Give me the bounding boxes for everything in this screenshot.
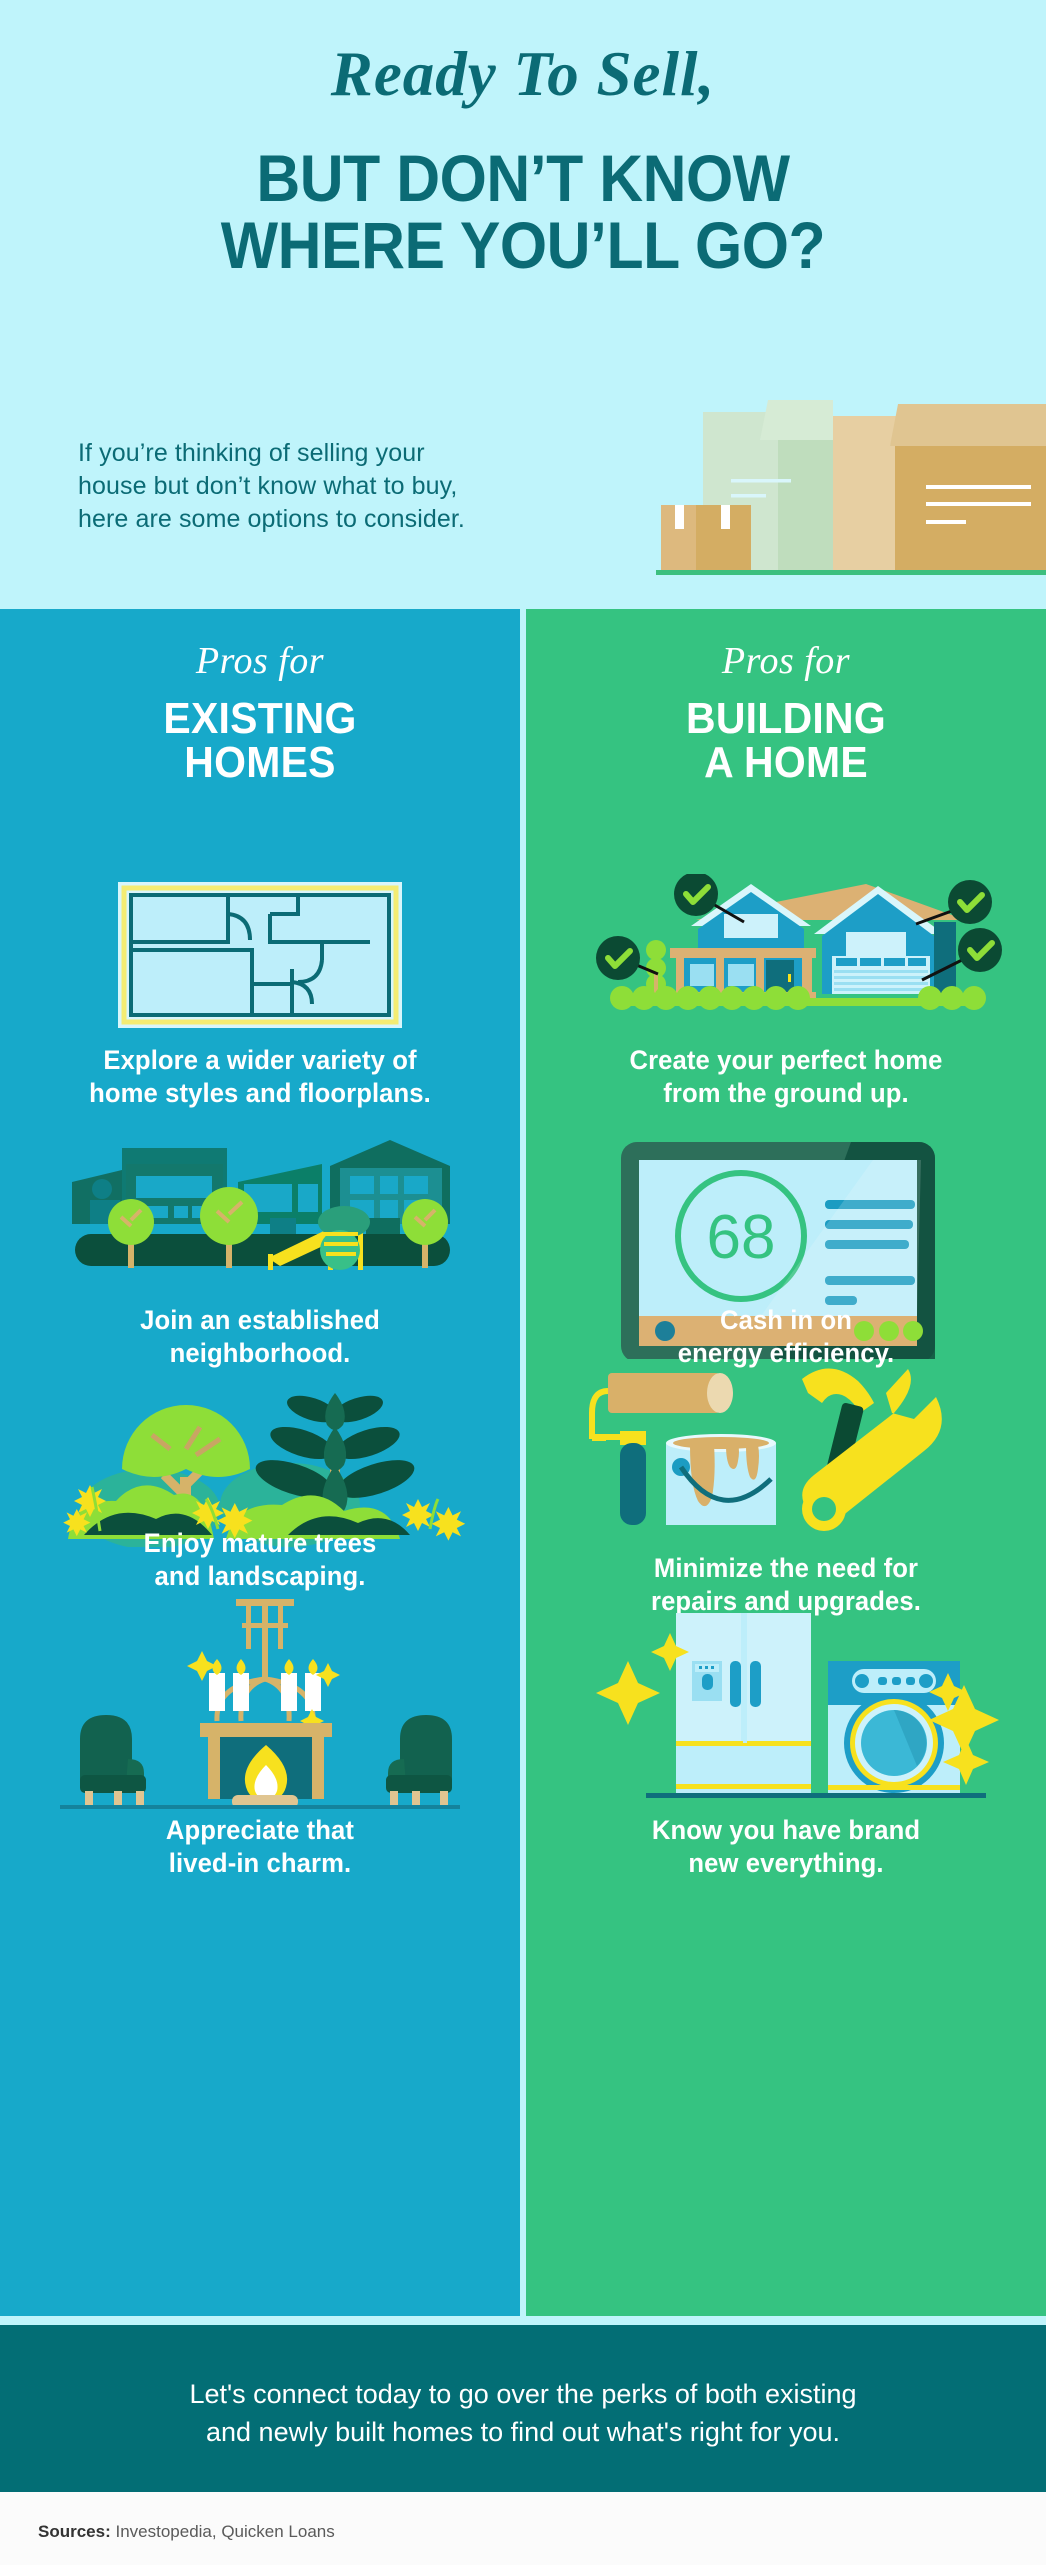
cta-banner: Let's connect today to go over the perks… — [0, 2325, 1046, 2492]
caption-line-1: Know you have brand — [539, 1814, 1033, 1847]
column-title-right: BUILDING A HOME — [544, 697, 1028, 785]
list-item: Create your perfect home from the ground… — [526, 874, 1046, 1110]
caption-line-1: Cash in on — [539, 1304, 1033, 1337]
caption-line-1: Enjoy mature trees — [13, 1527, 507, 1560]
list-item: Enjoy mature trees and landscaping. — [0, 1357, 520, 1593]
page-title-line2: WHERE YOU’LL GO? — [42, 212, 1004, 279]
caption-line-1: Minimize the need for — [539, 1552, 1033, 1585]
intro-paragraph: If you’re thinking of selling your house… — [78, 437, 548, 536]
sources-value: Investopedia, Quicken Loans — [111, 2522, 335, 2541]
column-kicker-right: Pros for — [526, 639, 1046, 683]
column-title-right-line1: BUILDING — [544, 697, 1028, 741]
list-item-caption: Create your perfect home from the ground… — [539, 1044, 1033, 1110]
caption-line-1: Create your perfect home — [539, 1044, 1033, 1077]
caption-line-2: home styles and floorplans. — [13, 1077, 507, 1110]
sources-label: Sources: — [38, 2522, 111, 2541]
smart-thermostat-tablet-icon: 68 — [526, 1134, 1046, 1304]
column-title-left-line2: HOMES — [18, 741, 502, 785]
caption-line-2: lived-in charm. — [13, 1847, 507, 1880]
column-kicker-left: Pros for — [0, 639, 520, 683]
pros-columns: Pros for EXISTING HOMES — [0, 609, 1046, 2316]
column-title-left-line1: EXISTING — [18, 697, 502, 741]
caption-line-2: new everything. — [539, 1847, 1033, 1880]
sources-text: Sources: Investopedia, Quicken Loans — [38, 2522, 335, 2542]
caption-line-1: Join an established — [13, 1304, 507, 1337]
infographic-page: Ready To Sell, BUT DON’T KNOW WHERE YOU’… — [0, 0, 1046, 2565]
page-title-line1: BUT DON’T KNOW — [42, 145, 1004, 212]
new-appliances-icon — [526, 1599, 1046, 1814]
list-item: Minimize the need for repairs and upgrad… — [526, 1357, 1046, 1618]
thermostat-value: 68 — [707, 1203, 776, 1272]
page-title-script: Ready To Sell, — [0, 38, 1046, 111]
list-item-caption: Explore a wider variety of home styles a… — [13, 1044, 507, 1110]
mature-trees-icon — [0, 1357, 520, 1527]
intro-line-3: here are some options to consider. — [78, 503, 548, 536]
intro-line-2: house but don’t know what to buy, — [78, 470, 548, 503]
paint-tools-icon — [526, 1357, 1046, 1552]
cta-line-2: and newly built homes to find out what's… — [0, 2413, 1046, 2451]
caption-line-1: Appreciate that — [13, 1814, 507, 1847]
list-item: Explore a wider variety of home styles a… — [0, 874, 520, 1110]
caption-line-2: and landscaping. — [13, 1560, 507, 1593]
column-title-right-line2: A HOME — [544, 741, 1028, 785]
floorplan-icon — [0, 874, 520, 1044]
column-existing-homes: Pros for EXISTING HOMES — [0, 609, 520, 2316]
list-item-caption: Enjoy mature trees and landscaping. — [13, 1527, 507, 1593]
list-item-caption: Appreciate that lived-in charm. — [13, 1814, 507, 1880]
cta-text: Let's connect today to go over the perks… — [0, 2375, 1046, 2452]
list-item: Join an established neighborhood. — [0, 1134, 520, 1370]
list-item: Appreciate that lived-in charm. — [0, 1599, 520, 1880]
caption-line-1: Explore a wider variety of — [13, 1044, 507, 1077]
fireplace-icon — [0, 1599, 520, 1814]
list-item: 68 Cash in on energy efficiency. — [526, 1134, 1046, 1370]
moving-boxes-illustration — [608, 400, 1046, 595]
cta-line-1: Let's connect today to go over the perks… — [0, 2375, 1046, 2413]
intro-line-1: If you’re thinking of selling your — [78, 437, 548, 470]
column-building-a-home: Pros for BUILDING A HOME — [526, 609, 1046, 2316]
new-house-checkmarks-icon — [526, 874, 1046, 1044]
caption-line-2: from the ground up. — [539, 1077, 1033, 1110]
list-item-caption: Know you have brand new everything. — [539, 1814, 1033, 1880]
sources-bar: Sources: Investopedia, Quicken Loans — [0, 2492, 1046, 2565]
list-item: Know you have brand new everything. — [526, 1599, 1046, 1880]
neighborhood-icon — [0, 1134, 520, 1304]
header-section: Ready To Sell, BUT DON’T KNOW WHERE YOU’… — [0, 0, 1046, 609]
column-title-left: EXISTING HOMES — [18, 697, 502, 785]
